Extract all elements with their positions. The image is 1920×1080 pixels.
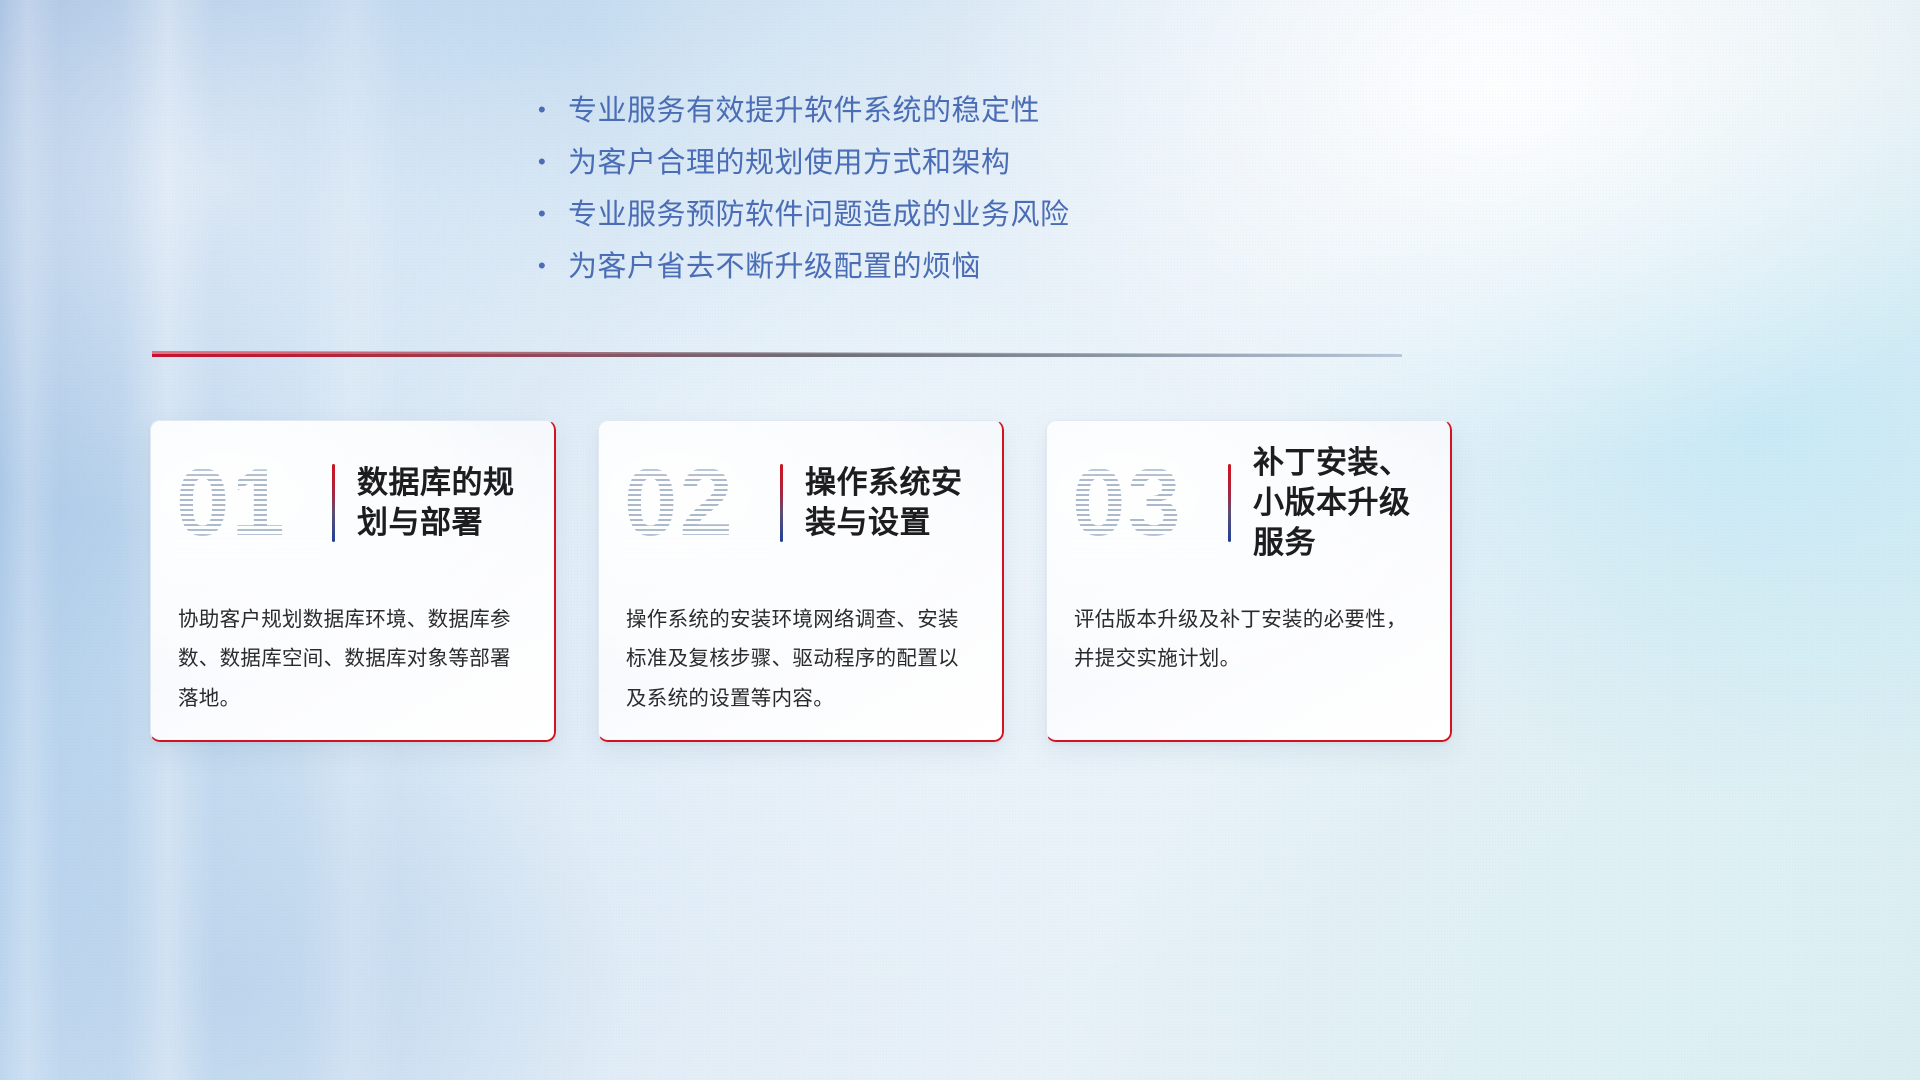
benefits-bullet-list: 专业服务有效提升软件系统的稳定性 为客户合理的规划使用方式和架构 专业服务预防软… [538,92,1258,300]
card-title: 操作系统安装与设置 [805,463,986,542]
bullet-dot-icon [538,255,568,277]
service-card-03[interactable]: 03 补丁安装、小版本升级服务 评估版本升级及补丁安装的必要性，并提交实施计划。 [1046,420,1452,742]
card-description: 评估版本升级及补丁安装的必要性，并提交实施计划。 [1046,586,1452,679]
bullet-item-label: 为客户合理的规划使用方式和架构 [568,144,1011,183]
card-header: 03 补丁安装、小版本升级服务 [1046,420,1452,586]
bullet-dot-icon [538,99,568,121]
card-title-rule [332,464,335,542]
service-card-list: 01 数据库的规划与部署 协助客户规划数据库环境、数据库参数、数据库空间、数据库… [150,420,1452,742]
bullet-item-label: 专业服务有效提升软件系统的稳定性 [568,92,1040,131]
bullet-item: 专业服务有效提升软件系统的稳定性 [538,92,1258,144]
presentation-slide: 专业服务有效提升软件系统的稳定性 为客户合理的规划使用方式和架构 专业服务预防软… [0,0,1920,1080]
section-divider [152,347,1402,365]
bullet-item: 专业服务预防软件问题造成的业务风险 [538,196,1258,248]
bullet-item: 为客户合理的规划使用方式和架构 [538,144,1258,196]
card-title-rule [780,464,783,542]
bullet-item-label: 专业服务预防软件问题造成的业务风险 [568,196,1070,235]
bullet-item-label: 为客户省去不断升级配置的烦恼 [568,248,981,287]
divider-highlight [152,351,1402,354]
card-description: 协助客户规划数据库环境、数据库参数、数据库空间、数据库对象等部署落地。 [150,586,556,718]
bullet-dot-icon [538,151,568,173]
card-number-watermark: 01 [176,449,326,557]
card-header: 01 数据库的规划与部署 [150,420,556,586]
card-title-rule [1228,464,1231,542]
bullet-dot-icon [538,203,568,225]
bullet-item: 为客户省去不断升级配置的烦恼 [538,248,1258,300]
card-title: 数据库的规划与部署 [357,463,538,542]
service-card-01[interactable]: 01 数据库的规划与部署 协助客户规划数据库环境、数据库参数、数据库空间、数据库… [150,420,556,742]
card-title: 补丁安装、小版本升级服务 [1253,443,1434,562]
card-number-watermark: 02 [624,449,774,557]
card-header: 02 操作系统安装与设置 [598,420,1004,586]
card-description: 操作系统的安装环境网络调查、安装标准及复核步骤、驱动程序的配置以及系统的设置等内… [598,586,1004,718]
card-number-watermark: 03 [1072,449,1222,557]
service-card-02[interactable]: 02 操作系统安装与设置 操作系统的安装环境网络调查、安装标准及复核步骤、驱动程… [598,420,1004,742]
